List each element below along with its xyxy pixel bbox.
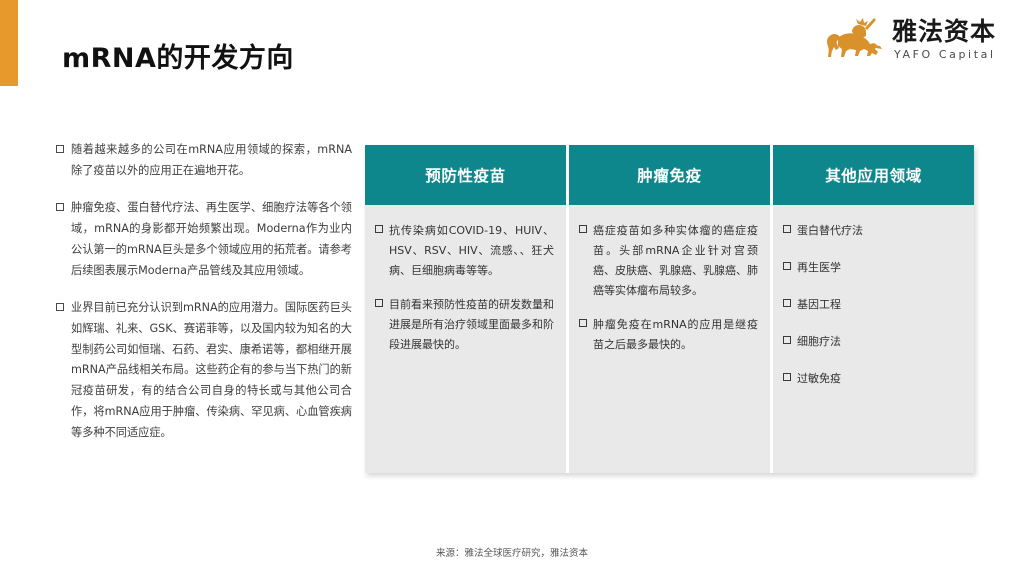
list-item-text: 目前看来预防性疫苗的研发数量和进展是所有治疗领域里面最多和阶段进展最快的。 [389,295,554,355]
lion-icon [822,16,884,62]
page-title: mRNA的开发方向 [62,36,294,75]
list-item-text: 肿瘤免疫、蛋白替代疗法、再生医学、细胞疗法等各个领域，mRNA的身影都开始频繁出… [71,198,352,281]
column-header: 其他应用领域 [773,145,974,205]
list-item: 过敏免疫 [783,369,962,389]
table-column-preventive-vaccine: 预防性疫苗 抗传染病如COVID-19、HUIV、HSV、RSV、HIV、流感、… [365,145,566,473]
list-item: 基因工程 [783,295,962,315]
list-item: 随着越来越多的公司在mRNA应用领域的探索，mRNA除了疫苗以外的应用正在遍地开… [56,140,352,181]
brand-name-en: YAFO Capital [892,49,996,60]
square-bullet-icon [56,203,64,211]
list-item-text: 业界目前已充分认识到mRNA的应用潜力。国际医药巨头如辉瑞、礼来、GSK、赛诺菲… [71,298,352,443]
square-bullet-icon [375,299,383,307]
list-item: 癌症疫苗如多种实体瘤的癌症疫苗。头部mRNA企业针对宫颈癌、皮肤癌、乳腺癌、乳腺… [579,221,758,301]
list-item-text: 基因工程 [797,295,962,315]
brand-name-cn: 雅法资本 [892,19,996,44]
brand-logo: 雅法资本 YAFO Capital [822,16,996,62]
list-item-text: 抗传染病如COVID-19、HUIV、HSV、RSV、HIV、流感、、狂犬病、巨… [389,221,554,281]
list-item-text: 蛋白替代疗法 [797,221,962,241]
list-item-text: 随着越来越多的公司在mRNA应用领域的探索，mRNA除了疫苗以外的应用正在遍地开… [71,140,352,181]
square-bullet-icon [56,303,64,311]
list-item: 细胞疗法 [783,332,962,352]
square-bullet-icon [56,145,64,153]
list-item-text: 细胞疗法 [797,332,962,352]
column-body: 癌症疫苗如多种实体瘤的癌症疫苗。头部mRNA企业针对宫颈癌、皮肤癌、乳腺癌、乳腺… [569,205,770,473]
column-header: 肿瘤免疫 [569,145,770,205]
list-item-text: 癌症疫苗如多种实体瘤的癌症疫苗。头部mRNA企业针对宫颈癌、皮肤癌、乳腺癌、乳腺… [593,221,758,301]
list-item: 抗传染病如COVID-19、HUIV、HSV、RSV、HIV、流感、、狂犬病、巨… [375,221,554,281]
list-item: 肿瘤免疫在mRNA的应用是继疫苗之后最多最快的。 [579,315,758,355]
list-item-text: 肿瘤免疫在mRNA的应用是继疫苗之后最多最快的。 [593,315,758,355]
square-bullet-icon [579,225,587,233]
accent-bar [0,0,18,86]
column-header: 预防性疫苗 [365,145,566,205]
table-column-other-applications: 其他应用领域 蛋白替代疗法 再生医学 基因工程 细胞疗法 过敏免疫 [773,145,974,473]
square-bullet-icon [375,225,383,233]
source-note: 来源：雅法全球医疗研究，雅法资本 [0,545,1024,559]
list-item-text: 再生医学 [797,258,962,278]
list-item: 肿瘤免疫、蛋白替代疗法、再生医学、细胞疗法等各个领域，mRNA的身影都开始频繁出… [56,198,352,281]
square-bullet-icon [783,336,791,344]
square-bullet-icon [783,225,791,233]
column-body: 蛋白替代疗法 再生医学 基因工程 细胞疗法 过敏免疫 [773,205,974,473]
table-column-tumor-immunity: 肿瘤免疫 癌症疫苗如多种实体瘤的癌症疫苗。头部mRNA企业针对宫颈癌、皮肤癌、乳… [569,145,770,473]
list-item: 业界目前已充分认识到mRNA的应用潜力。国际医药巨头如辉瑞、礼来、GSK、赛诺菲… [56,298,352,443]
square-bullet-icon [579,319,587,327]
square-bullet-icon [783,373,791,381]
list-item: 再生医学 [783,258,962,278]
list-item: 目前看来预防性疫苗的研发数量和进展是所有治疗领域里面最多和阶段进展最快的。 [375,295,554,355]
square-bullet-icon [783,299,791,307]
list-item-text: 过敏免疫 [797,369,962,389]
list-item: 蛋白替代疗法 [783,221,962,241]
application-domain-table: 预防性疫苗 抗传染病如COVID-19、HUIV、HSV、RSV、HIV、流感、… [365,145,974,473]
square-bullet-icon [783,262,791,270]
column-body: 抗传染病如COVID-19、HUIV、HSV、RSV、HIV、流感、、狂犬病、巨… [365,205,566,473]
left-bullet-list: 随着越来越多的公司在mRNA应用领域的探索，mRNA除了疫苗以外的应用正在遍地开… [56,140,352,460]
